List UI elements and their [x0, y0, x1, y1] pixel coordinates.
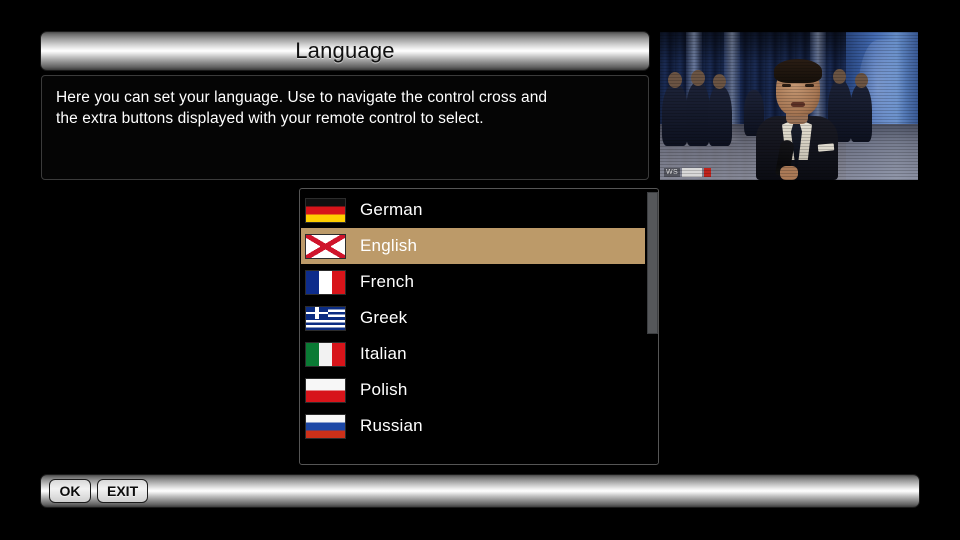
page-title: Language [295, 38, 394, 64]
list-scrollbar[interactable] [647, 192, 658, 463]
flag-united-kingdom-icon [305, 234, 346, 259]
video-crowd-head [855, 73, 868, 88]
list-item[interactable]: Russian [301, 408, 645, 444]
video-watermark: WS [664, 168, 711, 177]
video-reporter-eye [805, 84, 814, 87]
list-item[interactable]: Italian [301, 336, 645, 372]
video-preview[interactable]: WS [660, 32, 918, 180]
video-crowd-head [833, 69, 846, 84]
list-item[interactable]: French [301, 264, 645, 300]
ok-button[interactable]: OK [49, 479, 91, 503]
video-reporter-pocket-square [818, 143, 835, 151]
video-watermark-text: WS [664, 168, 680, 177]
description-panel: Here you can set your language. Use to n… [41, 75, 649, 180]
video-crowd-person [708, 86, 732, 146]
exit-button[interactable]: EXIT [97, 479, 148, 503]
video-reporter-eye [782, 84, 791, 87]
video-crowd-person [662, 84, 688, 146]
video-watermark-accent [704, 168, 711, 177]
list-item-label: Polish [360, 380, 408, 400]
list-item-label: French [360, 272, 414, 292]
list-item[interactable]: English [301, 228, 645, 264]
video-reporter-hair [774, 59, 822, 83]
video-crowd-person [686, 82, 710, 146]
video-reporter-mouth [791, 102, 805, 107]
bottom-action-bar: OK EXIT [40, 474, 920, 508]
tv-settings-screen: Language Here you can set your language.… [0, 0, 960, 540]
flag-germany-icon [305, 198, 346, 223]
list-item[interactable]: German [301, 192, 645, 228]
flag-greece-icon [305, 306, 346, 331]
flag-italy-icon [305, 342, 346, 367]
video-reporter-hand [780, 166, 798, 180]
flag-poland-icon [305, 378, 346, 403]
video-crowd-head [713, 74, 726, 89]
list-item-label: Greek [360, 308, 407, 328]
list-item-label: English [360, 236, 417, 256]
flag-russia-icon [305, 414, 346, 439]
list-item-label: Russian [360, 416, 423, 436]
list-item[interactable]: Greek [301, 300, 645, 336]
language-list-panel: German English French Greek Italian Poli [299, 188, 659, 465]
list-item-label: Italian [360, 344, 407, 364]
list-item[interactable]: Polish [301, 372, 645, 408]
video-crowd-head [668, 72, 682, 88]
language-list[interactable]: German English French Greek Italian Poli [301, 192, 645, 444]
description-text: Here you can set your language. Use to n… [56, 87, 634, 129]
flag-france-icon [305, 270, 346, 295]
video-crowd-head [691, 70, 705, 86]
video-crowd-person [850, 84, 872, 142]
video-watermark-box [682, 168, 702, 177]
title-bar: Language [40, 31, 650, 71]
list-item-label: German [360, 200, 423, 220]
list-scrollbar-thumb[interactable] [647, 192, 658, 334]
